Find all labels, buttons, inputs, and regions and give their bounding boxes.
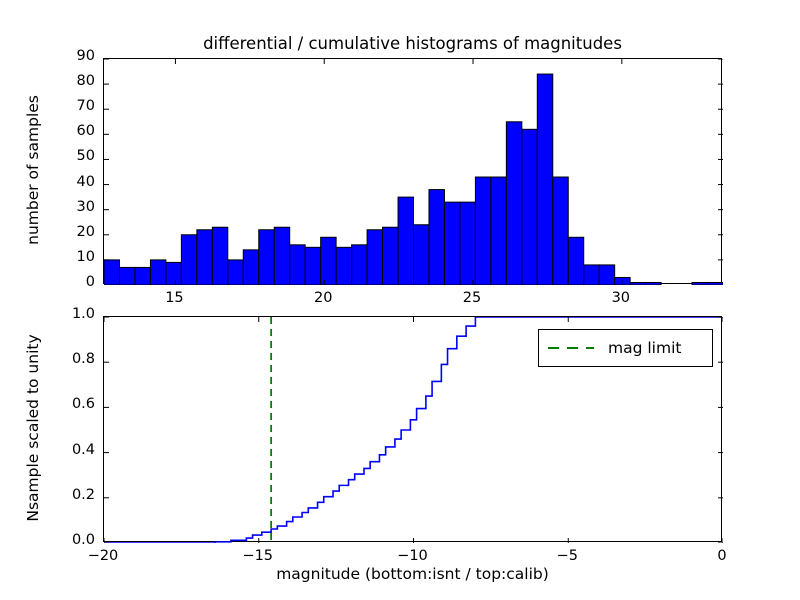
differential-histogram-axes: [103, 58, 722, 284]
histogram-bar: [135, 267, 150, 285]
top-x-tick-label: 20: [298, 290, 348, 306]
histogram-bar: [212, 227, 227, 285]
top-x-tick-label: 30: [596, 290, 646, 306]
histogram-bar: [475, 177, 490, 285]
histogram-bar: [414, 225, 429, 285]
bottom-y-tick-label: 0.4: [45, 442, 95, 458]
bottom-x-tick-label: −5: [539, 548, 595, 564]
histogram-bar: [630, 282, 645, 285]
top-y-tick-label: 70: [51, 98, 95, 114]
histogram-bar: [398, 197, 413, 285]
histogram-bar: [321, 237, 336, 285]
bottom-x-tick-label: −10: [385, 548, 441, 564]
chart-title: differential / cumulative histograms of …: [103, 34, 722, 53]
bottom-y-tick-label: 0.2: [45, 487, 95, 503]
histogram-bar: [568, 237, 583, 285]
bottom-y-tick-label: 0.0: [45, 532, 95, 548]
histogram-bar: [444, 202, 459, 285]
top-y-tick-label: 0: [51, 274, 95, 290]
histogram-bar: [166, 262, 181, 285]
top-x-tick-label: 25: [447, 290, 497, 306]
histogram-plot-area: [104, 59, 723, 285]
histogram-bar: [584, 265, 599, 285]
mag-limit-legend-swatch: [548, 347, 594, 350]
top-y-tick-label: 10: [51, 249, 95, 265]
histogram-bar: [305, 247, 320, 285]
bottom-y-tick-label: 1.0: [45, 306, 95, 322]
bottom-x-tick-label: 0: [694, 548, 750, 564]
histogram-bar: [274, 227, 289, 285]
top-y-tick-label: 40: [51, 174, 95, 190]
legend-box: mag limit: [538, 329, 713, 367]
histogram-bar: [104, 260, 119, 285]
histogram-bar: [352, 245, 367, 285]
figure-canvas: differential / cumulative histograms of …: [0, 0, 800, 600]
histogram-bar: [119, 267, 134, 285]
bottom-x-tick-label: −20: [75, 548, 131, 564]
histogram-bar: [460, 202, 475, 285]
histogram-bar: [537, 74, 552, 285]
histogram-bar: [646, 282, 661, 285]
top-y-tick-label: 30: [51, 199, 95, 215]
histogram-bar: [692, 282, 707, 285]
histogram-bar: [553, 177, 568, 285]
histogram-bar: [429, 190, 444, 285]
bottom-x-tick-label: −15: [230, 548, 286, 564]
histogram-bar: [615, 277, 630, 285]
histogram-bar: [522, 129, 537, 285]
top-y-tick-label: 80: [51, 73, 95, 89]
histogram-bar: [181, 235, 196, 285]
histogram-bar: [197, 230, 212, 285]
bottom-y-axis-label: Nsample scaled to unity: [24, 313, 42, 543]
legend-label-mag-limit: mag limit: [608, 339, 681, 357]
histogram-bar: [506, 122, 521, 285]
bottom-x-axis-label: magnitude (bottom:isnt / top:calib): [103, 565, 722, 583]
histogram-bar: [290, 245, 305, 285]
histogram-bar: [599, 265, 614, 285]
histogram-bar: [243, 250, 258, 285]
top-x-tick-label: 15: [149, 290, 199, 306]
top-y-tick-label: 90: [51, 48, 95, 64]
histogram-bar: [336, 247, 351, 285]
top-y-axis-label: number of samples: [24, 57, 42, 283]
top-y-tick-label: 20: [51, 224, 95, 240]
histogram-bar: [259, 230, 274, 285]
top-y-tick-label: 60: [51, 123, 95, 139]
bottom-y-tick-label: 0.6: [45, 396, 95, 412]
top-y-tick-label: 50: [51, 148, 95, 164]
histogram-bar: [228, 260, 243, 285]
histogram-bar: [150, 260, 165, 285]
histogram-bar: [491, 177, 506, 285]
histogram-bar: [367, 230, 382, 285]
histogram-bar: [383, 227, 398, 285]
bottom-y-tick-label: 0.8: [45, 351, 95, 367]
